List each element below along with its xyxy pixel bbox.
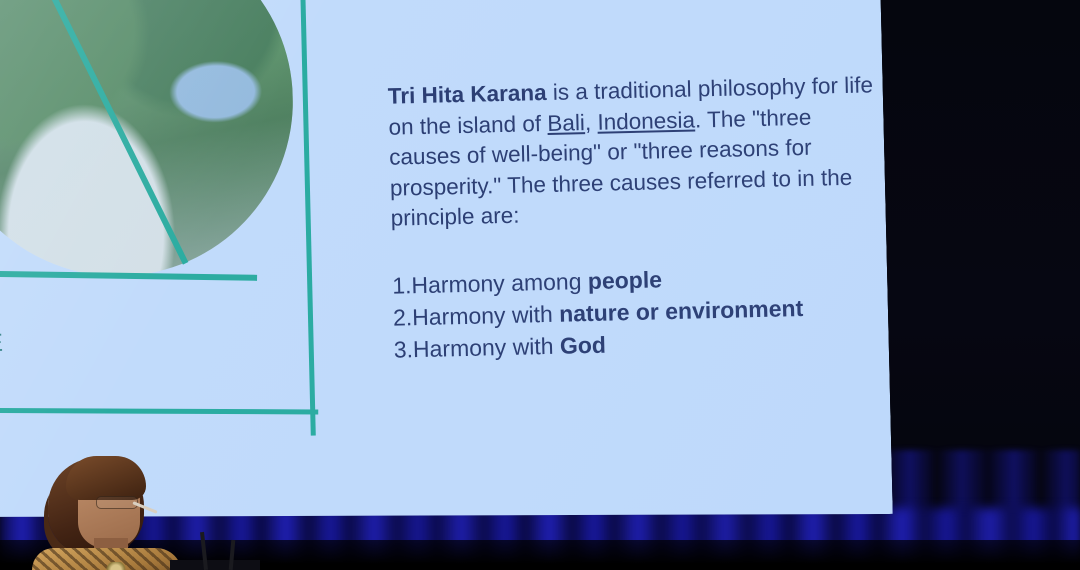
list-item-number: 1.	[392, 272, 412, 298]
link-bali[interactable]: Bali	[547, 110, 585, 136]
list-item-emphasis: God	[560, 332, 607, 359]
list-item-text: Harmony with	[413, 333, 561, 362]
village-road-photo	[0, 0, 297, 280]
presentation-photo: AN HUMAN & NATURE TRI HITA KARANA Tri Hi…	[0, 0, 1080, 570]
graphic-caption: AN HUMAN & NATURE	[0, 322, 289, 364]
slide-list: 1.Harmony among people 2.Harmony with na…	[392, 259, 864, 366]
paragraph-lead: Tri Hita Karana	[388, 80, 547, 109]
frame-vertical-line	[296, 0, 316, 436]
list-item-number: 2.	[393, 304, 413, 330]
list-item-emphasis: nature or environment	[559, 295, 804, 327]
presenter-brooch	[104, 562, 128, 570]
podium	[170, 560, 260, 570]
presenter-hair-front	[66, 456, 146, 500]
presenter-at-podium	[20, 440, 250, 570]
paragraph-separator: ,	[585, 109, 598, 134]
frame-bottom-line	[0, 407, 318, 415]
link-indonesia[interactable]: Indonesia	[597, 107, 695, 134]
list-item-emphasis: people	[588, 266, 663, 294]
slide-paragraph: Tri Hita Karana is a traditional philoso…	[387, 70, 890, 234]
list-item-number: 3.	[393, 336, 413, 362]
slide-title: TRI HITA KARANA	[379, 0, 893, 11]
list-item-text: Harmony among	[411, 268, 588, 298]
slide-graphic-panel: AN HUMAN & NATURE	[0, 0, 341, 450]
list-item-text: Harmony with	[412, 301, 560, 330]
